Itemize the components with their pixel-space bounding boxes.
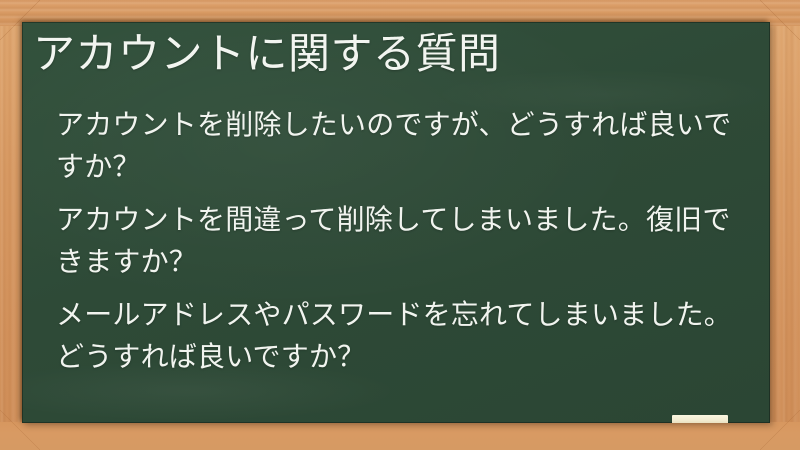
question-list-item: アカウントを間違って削除してしまいました。復旧できますか？ xyxy=(56,199,746,283)
slide-title: アカウントに関する質問 xyxy=(33,30,759,79)
chalkboard-slide: アカウントに関する質問 アカウントを削除したいのですが、どうすれば良いですか？ … xyxy=(0,0,800,450)
question-list-item: アカウントを削除したいのですが、どうすれば良いですか？ xyxy=(56,104,746,188)
wooden-frame-bottom-rail xyxy=(0,422,800,450)
question-list: アカウントを削除したいのですが、どうすれば良いですか？ アカウントを間違って削除… xyxy=(56,104,746,378)
chalkboard-surface: アカウントに関する質問 アカウントを削除したいのですが、どうすれば良いですか？ … xyxy=(22,22,770,423)
question-list-item: メールアドレスやパスワードを忘れてしまいました。どうすれば良いですか？ xyxy=(56,294,746,378)
chalk-stick-icon xyxy=(672,415,728,423)
